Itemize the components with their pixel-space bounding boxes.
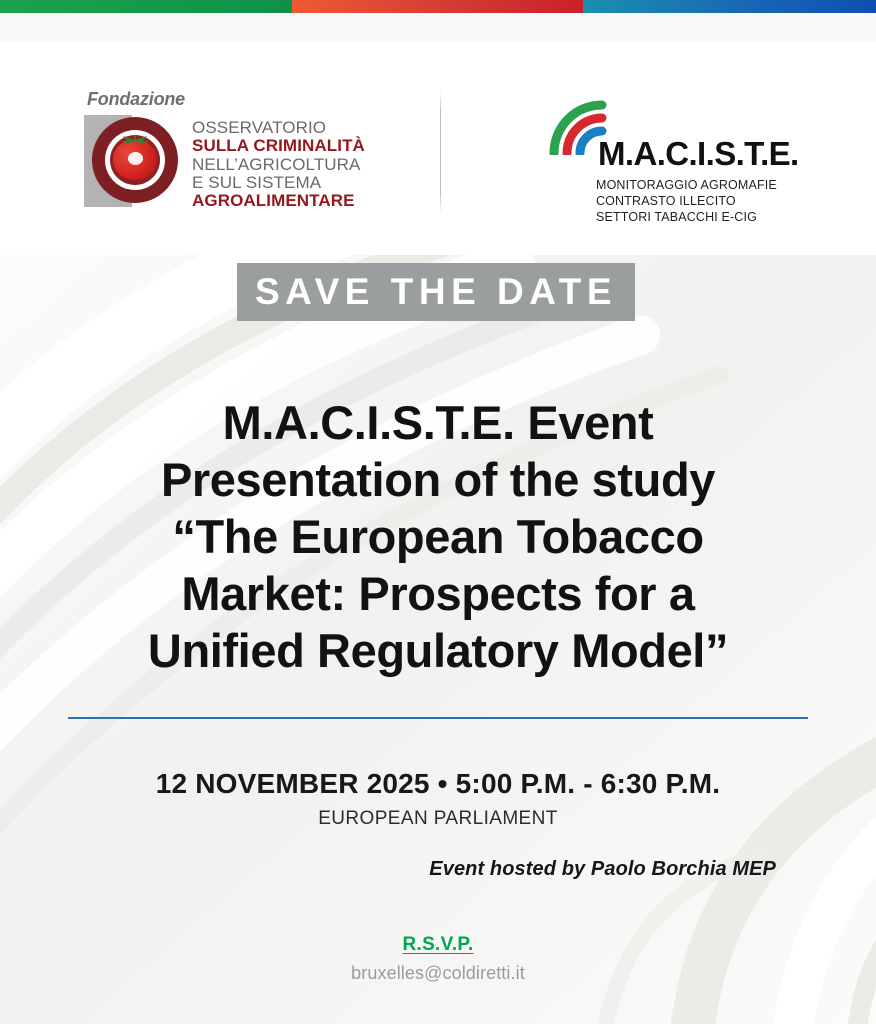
- maciste-subtitle: MONITORAGGIO AGROMAFIE CONTRASTO ILLECIT…: [596, 177, 777, 225]
- tomato-leaf-icon: [118, 135, 152, 147]
- tomato-target-icon: [84, 115, 180, 207]
- section-divider: [68, 717, 808, 719]
- topbar-segment-blue: [583, 0, 876, 13]
- fondazione-osservatorio-logo: Fondazione OSSERVATORIO: [84, 89, 414, 229]
- topbar-segment-red: [292, 0, 583, 13]
- header-top-strip: [0, 13, 876, 42]
- tomato-highlight: [128, 152, 143, 165]
- fondazione-line-5: AGROALIMENTARE: [192, 192, 365, 210]
- event-datetime-block: 12 NOVEMBER 2025 • 5:00 P.M. - 6:30 P.M.…: [0, 768, 876, 830]
- topbar-segment-green: [0, 0, 292, 13]
- event-venue: EUROPEAN PARLIAMENT: [0, 808, 876, 830]
- rsvp-label[interactable]: R.S.V.P.: [402, 934, 473, 956]
- fondazione-line-1: OSSERVATORIO: [192, 119, 365, 137]
- save-the-date-banner: SAVE THE DATE: [237, 263, 635, 321]
- maciste-logo: M.A.C.I.S.T.E. MONITORAGGIO AGROMAFIE CO…: [548, 97, 808, 229]
- fondazione-eyebrow: Fondazione: [87, 89, 185, 110]
- rsvp-email[interactable]: bruxelles@coldiretti.it: [0, 963, 876, 984]
- top-color-bar: [0, 0, 876, 13]
- title-line-1: M.A.C.I.S.T.E. Event: [0, 394, 876, 451]
- title-line-5: Unified Regulatory Model”: [0, 622, 876, 679]
- event-host: Event hosted by Paolo Borchia MEP: [429, 858, 776, 881]
- title-line-3: “The European Tobacco: [0, 508, 876, 565]
- maciste-wordmark: M.A.C.I.S.T.E.: [598, 135, 799, 173]
- maciste-subtitle-line-3: SETTORI TABACCHI E-CIG: [596, 209, 777, 225]
- title-line-2: Presentation of the study: [0, 451, 876, 508]
- fondazione-line-3: NELL’AGRICOLTURA: [192, 156, 365, 174]
- fondazione-line-4: E SUL SISTEMA: [192, 174, 365, 192]
- poster-body: SAVE THE DATE M.A.C.I.S.T.E. Event Prese…: [0, 255, 876, 1024]
- fondazione-wordmark: OSSERVATORIO SULLA CRIMINALITÀ NELL’AGRI…: [192, 119, 365, 211]
- maciste-subtitle-line-2: CONTRASTO ILLECITO: [596, 193, 777, 209]
- maciste-subtitle-line-1: MONITORAGGIO AGROMAFIE: [596, 177, 777, 193]
- rsvp-block: R.S.V.P. bruxelles@coldiretti.it: [0, 934, 876, 984]
- save-the-date-label: SAVE THE DATE: [255, 271, 617, 313]
- event-date-time: 12 NOVEMBER 2025 • 5:00 P.M. - 6:30 P.M.: [0, 768, 876, 800]
- logo-vertical-divider: [440, 91, 441, 213]
- title-line-4: Market: Prospects for a: [0, 565, 876, 622]
- fondazione-line-2: SULLA CRIMINALITÀ: [192, 137, 365, 155]
- save-the-date-poster: Fondazione OSSERVATORIO: [0, 0, 876, 1024]
- event-title: M.A.C.I.S.T.E. Event Presentation of the…: [0, 394, 876, 679]
- logo-header: Fondazione OSSERVATORIO: [0, 13, 876, 255]
